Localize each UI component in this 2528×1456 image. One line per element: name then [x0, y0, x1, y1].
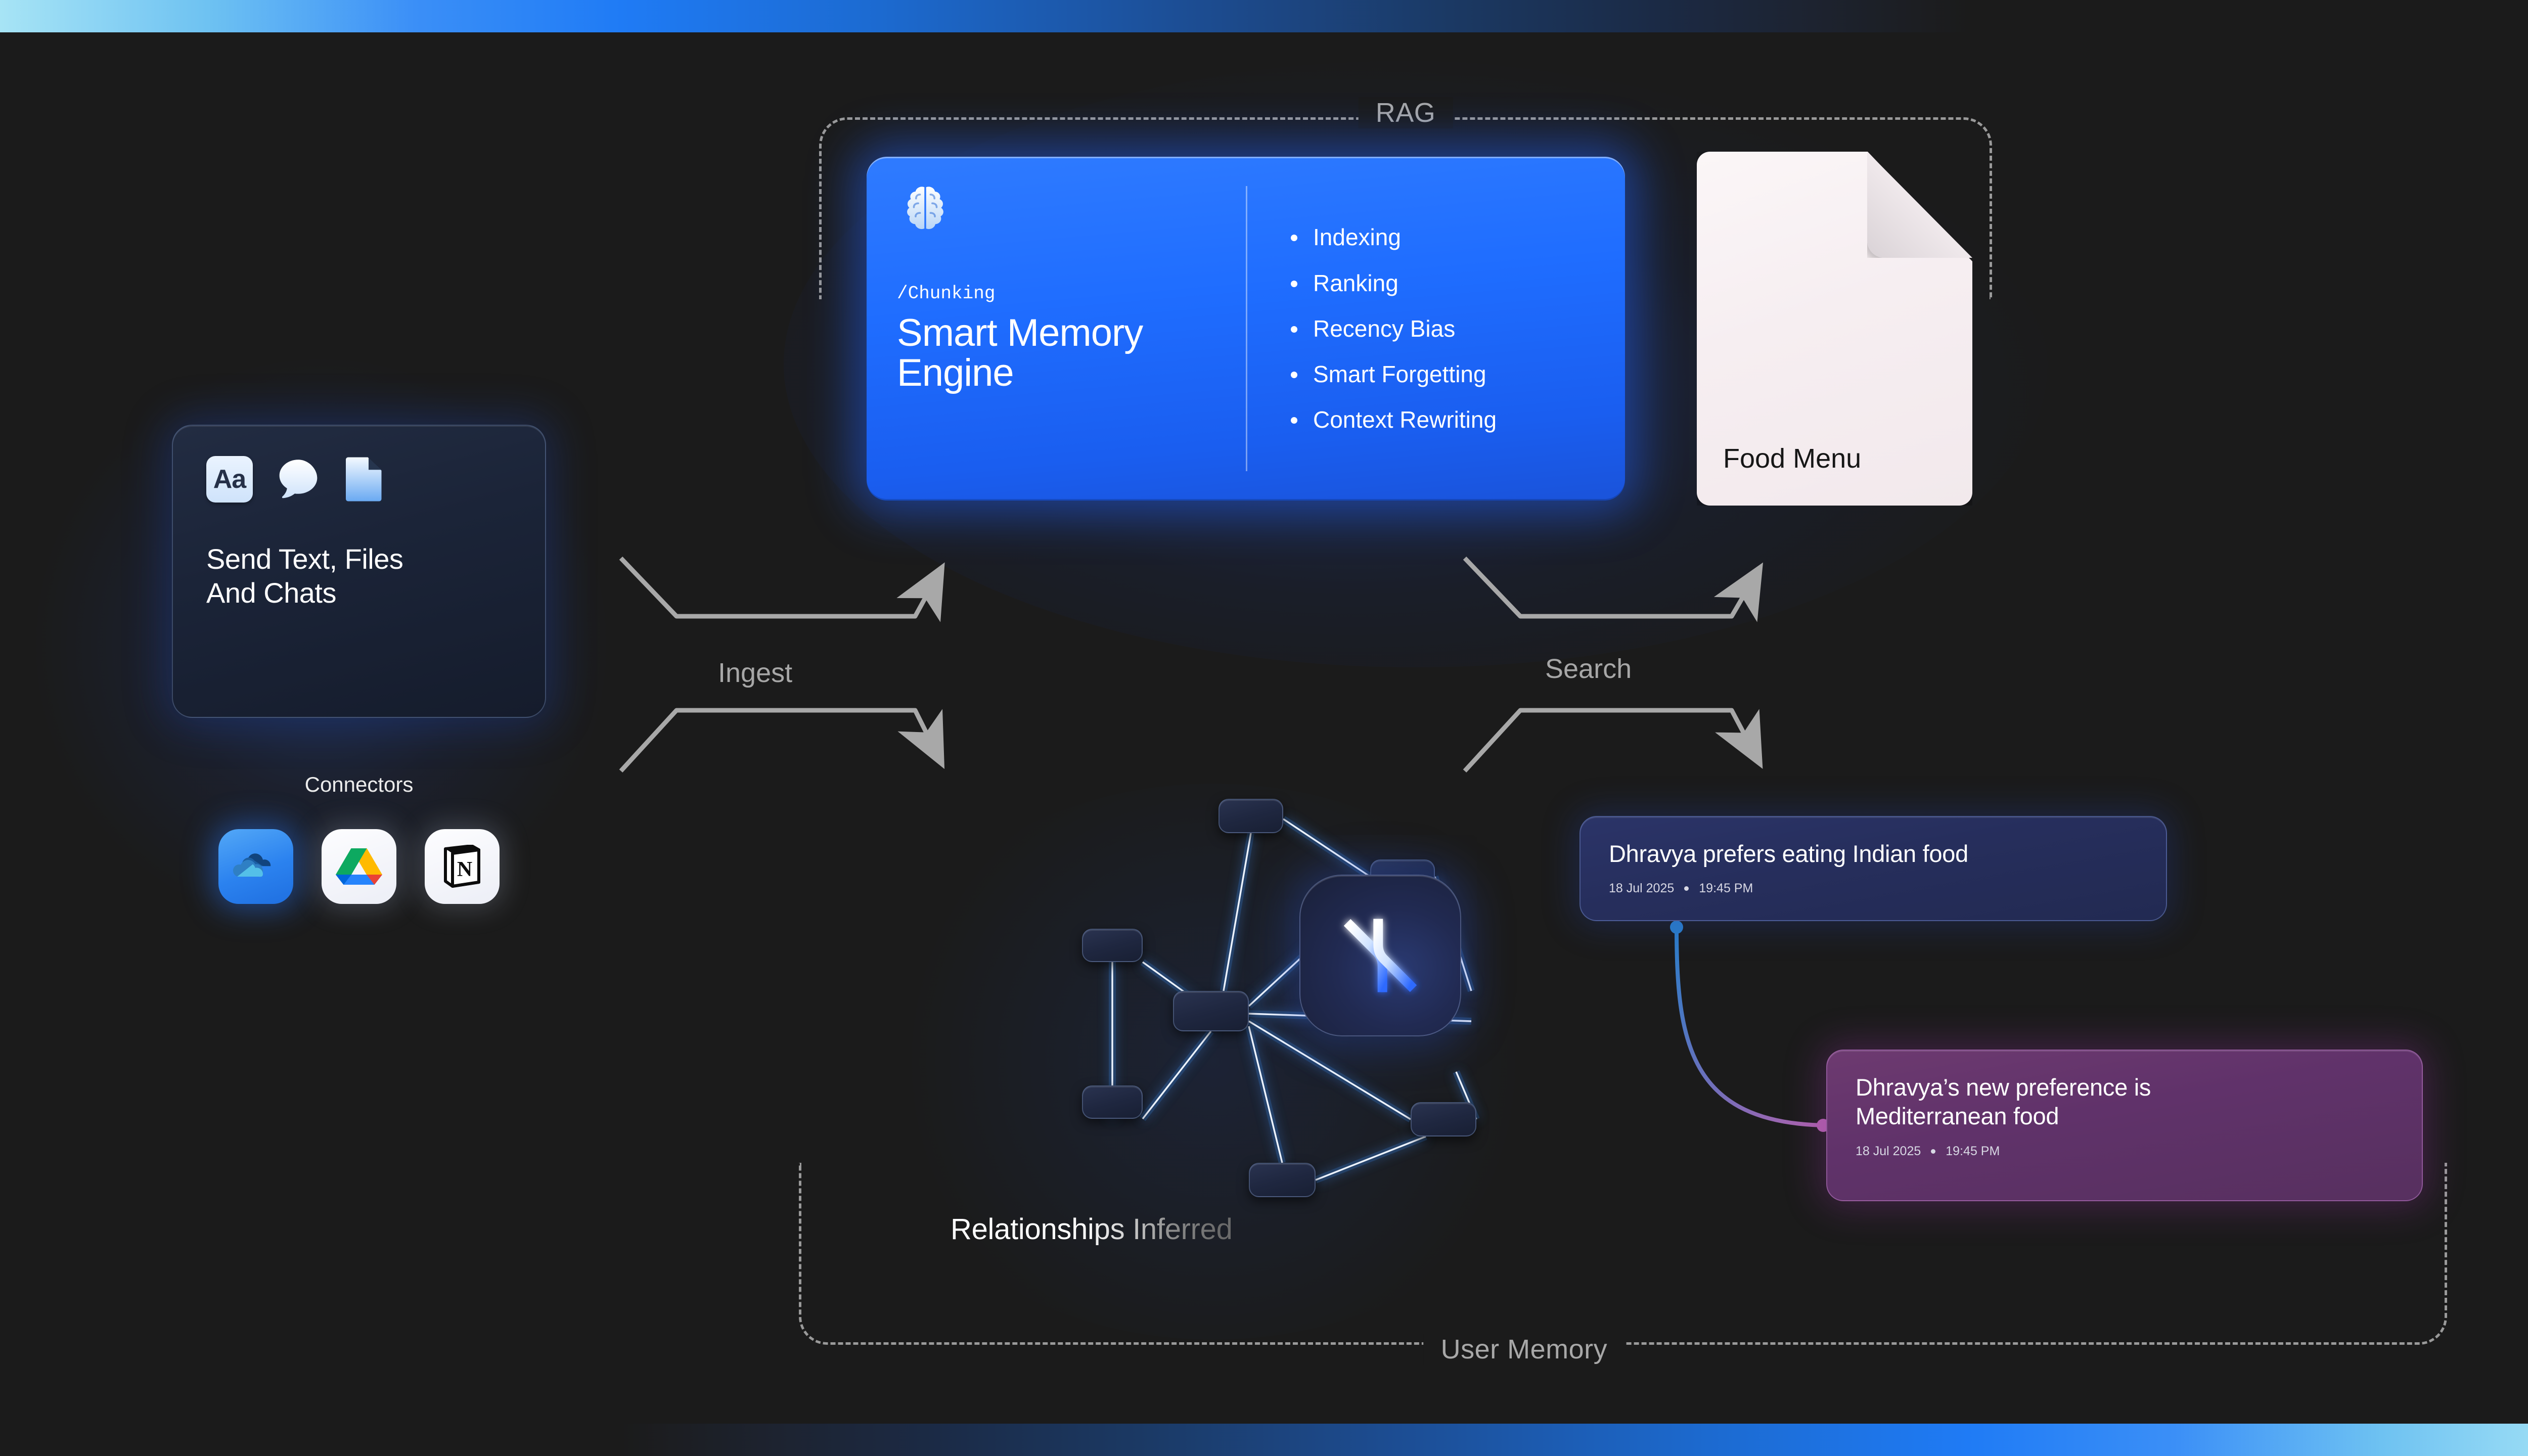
food-menu-document[interactable]: Food Menu — [1697, 152, 1972, 506]
memory-time: 19:45 PM — [1946, 1144, 2000, 1159]
connector-google-drive[interactable] — [322, 829, 396, 904]
text-format-icon: Aa — [206, 456, 253, 503]
supermemory-logo-icon — [1299, 875, 1461, 1036]
user-memory-region-label: User Memory — [1424, 1334, 1625, 1365]
connectors-row: N — [172, 829, 546, 904]
onedrive-icon — [232, 850, 280, 883]
memory-text: Dhravya’s new preference is Mediterranea… — [1856, 1073, 2394, 1131]
brain-icon — [897, 184, 954, 237]
feature-item: Indexing — [1287, 225, 1595, 249]
flow-label-search: Search — [1545, 653, 1632, 685]
memory-date: 18 Jul 2025 — [1856, 1144, 1921, 1159]
engine-card-right: Indexing Ranking Recency Bias Smart Forg… — [1247, 184, 1595, 473]
connector-onedrive[interactable] — [218, 829, 293, 904]
graph-node[interactable] — [1082, 1085, 1143, 1119]
graph-node[interactable] — [1218, 799, 1283, 833]
top-accent-bar — [0, 0, 2528, 32]
bottom-accent-bar — [0, 1424, 2528, 1456]
document-fold-corner-icon — [1867, 152, 1972, 258]
graph-caption: Relationships Inferred — [951, 1212, 1233, 1246]
feature-item: Ranking — [1287, 271, 1595, 295]
feature-item: Smart Forgetting — [1287, 362, 1595, 386]
flow-label-ingest: Ingest — [718, 657, 792, 689]
memory-card-indian-food[interactable]: Dhravya prefers eating Indian food 18 Ju… — [1579, 816, 2167, 921]
memory-meta: 18 Jul 2025 19:45 PM — [1609, 881, 2138, 896]
google-drive-icon — [336, 845, 382, 888]
engine-feature-list: Indexing Ranking Recency Bias Smart Forg… — [1287, 225, 1595, 432]
graph-node[interactable] — [1173, 991, 1249, 1031]
source-card-title: Send Text, Files And Chats — [206, 542, 512, 610]
connectors-label: Connectors — [172, 772, 546, 797]
memory-text-line2: Mediterranean food — [1856, 1102, 2394, 1130]
smart-memory-engine-card[interactable]: /Chunking Smart Memory Engine Indexing R… — [867, 157, 1625, 500]
graph-node[interactable] — [1082, 929, 1143, 962]
engine-title: Smart Memory Engine — [897, 313, 1246, 393]
memory-card-mediterranean-food[interactable]: Dhravya’s new preference is Mediterranea… — [1826, 1050, 2423, 1201]
rag-region-label: RAG — [1359, 97, 1453, 128]
file-document-icon — [344, 455, 384, 504]
source-icon-row: Aa — [206, 455, 512, 504]
send-sources-card[interactable]: Aa Send Text, Files And Chats — [172, 425, 546, 718]
notion-icon: N — [442, 845, 482, 888]
separator-dot-icon — [1931, 1149, 1935, 1154]
feature-item: Recency Bias — [1287, 316, 1595, 341]
memory-text: Dhravya prefers eating Indian food — [1609, 839, 2138, 868]
engine-title-line2: Engine — [897, 353, 1246, 393]
source-title-line1: Send Text, Files — [206, 542, 512, 576]
chat-bubble-icon — [275, 456, 322, 503]
graph-node[interactable] — [1249, 1163, 1316, 1197]
memory-date: 18 Jul 2025 — [1609, 881, 1674, 896]
memory-meta: 18 Jul 2025 19:45 PM — [1856, 1144, 2394, 1159]
graph-node[interactable] — [1411, 1102, 1476, 1136]
feature-item: Context Rewriting — [1287, 407, 1595, 432]
svg-text:N: N — [457, 858, 472, 881]
separator-dot-icon — [1684, 886, 1689, 891]
engine-card-left: /Chunking Smart Memory Engine — [897, 184, 1246, 473]
engine-eyebrow: /Chunking — [897, 283, 1246, 304]
connector-notion[interactable]: N — [425, 829, 500, 904]
engine-title-line1: Smart Memory — [897, 313, 1246, 353]
document-label: Food Menu — [1723, 443, 1861, 474]
memory-time: 19:45 PM — [1699, 881, 1753, 896]
diagram-stage: Ingest Search RAG — [0, 0, 2528, 1456]
source-title-line2: And Chats — [206, 576, 512, 610]
memory-text-line1: Dhravya’s new preference is — [1856, 1073, 2394, 1102]
